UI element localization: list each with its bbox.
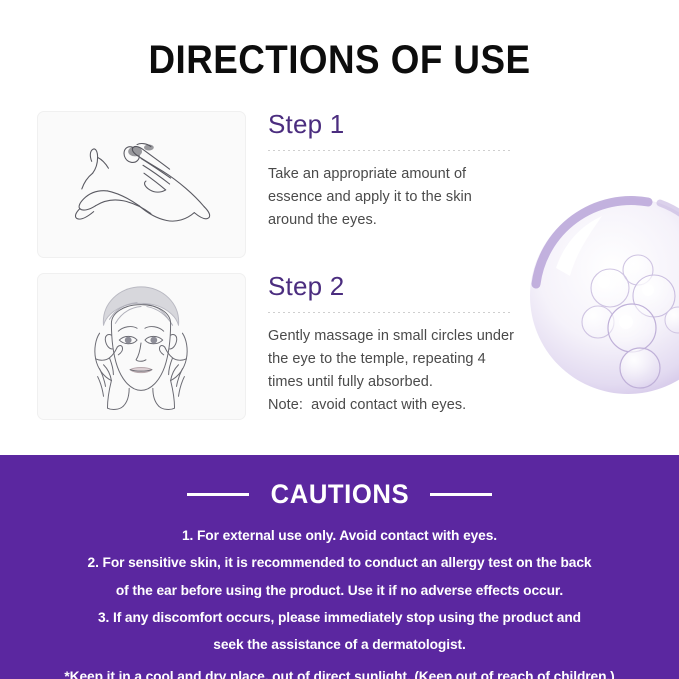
cautions-rule-right (430, 493, 492, 496)
step-2-body-line: times until fully absorbed. (268, 371, 548, 394)
cautions-rule-left (187, 493, 249, 496)
step-2-body-line: the eye to the temple, repeating 4 (268, 348, 548, 371)
step-2-body-line: Gently massage in small circles under (268, 325, 548, 348)
steps-section: Step 1 Take an appropriate amount of ess… (0, 0, 679, 455)
step-1-text-block: Step 1 Take an appropriate amount of ess… (268, 111, 548, 232)
step-2-heading: Step 2 (268, 273, 548, 299)
caution-line: 2. For sensitive skin, it is recommended… (10, 550, 669, 577)
hands-illustration-icon (38, 112, 245, 257)
step-1-divider (268, 150, 511, 151)
step-1-body: Take an appropriate amount of essence an… (268, 163, 548, 232)
cautions-list: 1. For external use only. Avoid contact … (0, 523, 679, 679)
step-2-divider (268, 312, 511, 313)
caution-line: seek the assistance of a dermatologist. (10, 632, 669, 659)
step-1-body-line: essence and apply it to the skin (268, 186, 548, 209)
step-2-illustration-panel (37, 273, 246, 420)
step-1-illustration-panel (37, 111, 246, 258)
caution-line: 1. For external use only. Avoid contact … (10, 523, 669, 550)
step-2-body-note: Note: avoid contact with eyes. (268, 394, 548, 417)
step-1-heading: Step 1 (268, 111, 548, 137)
step-2-text-block: Step 2 Gently massage in small circles u… (268, 273, 548, 417)
cautions-title: CAUTIONS (270, 479, 409, 510)
face-massage-illustration-icon (38, 274, 245, 419)
cautions-section: CAUTIONS 1. For external use only. Avoid… (0, 455, 679, 679)
caution-line: of the ear before using the product. Use… (10, 578, 669, 605)
product-instruction-graphic: DIRECTIONS OF USE (0, 0, 679, 679)
step-1-body-line: around the eyes. (268, 209, 548, 232)
caution-storage-note: *Keep it in a cool and dry place, out of… (10, 664, 669, 679)
step-1-body-line: Take an appropriate amount of (268, 163, 548, 186)
cautions-header: CAUTIONS (0, 479, 679, 510)
caution-line: 3. If any discomfort occurs, please imme… (10, 605, 669, 632)
step-2-body: Gently massage in small circles under th… (268, 325, 548, 417)
